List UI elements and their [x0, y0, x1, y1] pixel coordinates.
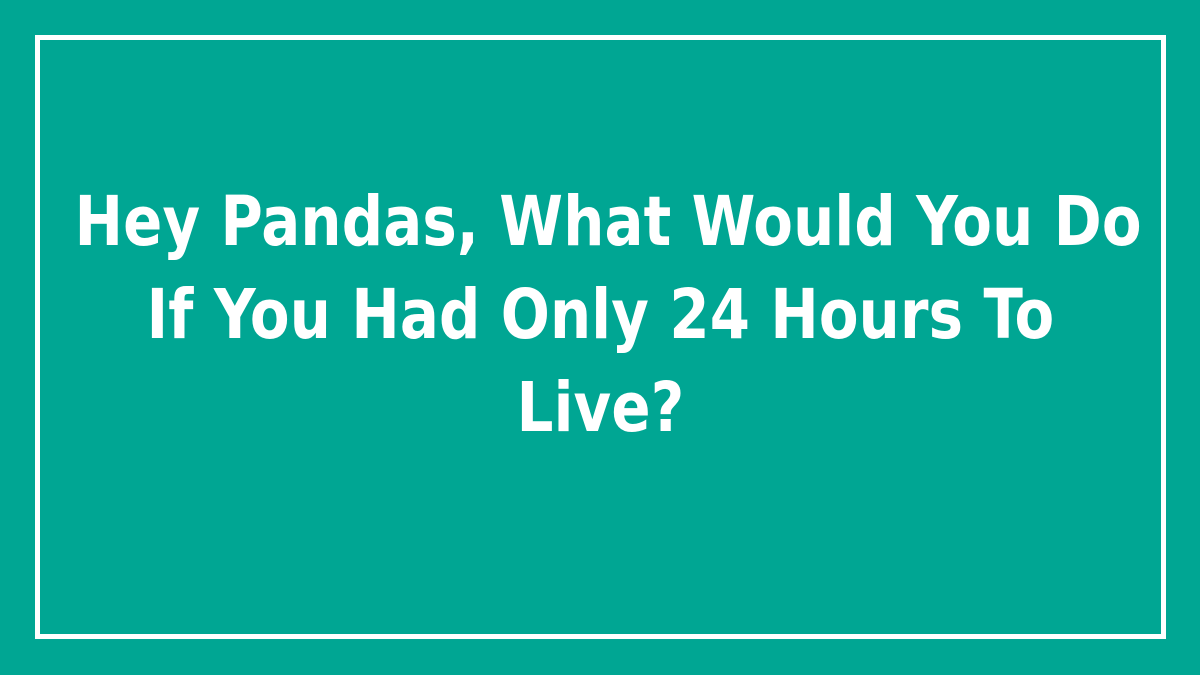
- headline-line-1: Hey Pandas, What Would You Do: [75, 176, 1127, 269]
- headline-text-block: Hey Pandas, What Would You Do If You Had…: [35, 35, 1166, 639]
- headline-line-3: Live?: [75, 362, 1127, 455]
- poster-card: Hey Pandas, What Would You Do If You Had…: [0, 0, 1200, 675]
- headline-line-2: If You Had Only 24 Hours To: [75, 269, 1127, 362]
